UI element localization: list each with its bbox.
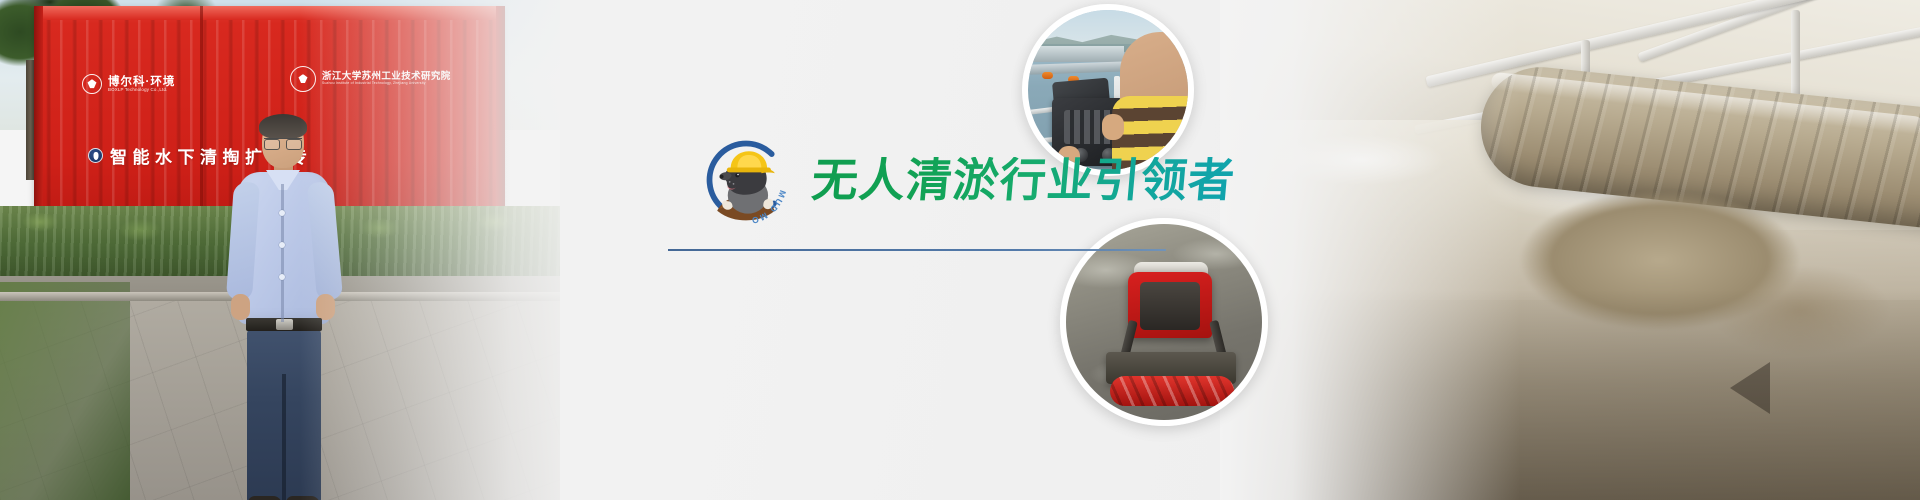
shirt-button [279, 242, 285, 248]
eyeglasses-icon [264, 138, 302, 148]
person-shoe [248, 496, 282, 500]
container-door-seam [200, 6, 203, 228]
person-shirt-placket [281, 184, 284, 322]
person-right-hand [316, 294, 335, 320]
boxlp-logo-icon [82, 74, 102, 94]
brand-secondary-en: Suzhou Institute of Industrial Technolog… [322, 82, 451, 86]
slogan-badge-icon [88, 148, 103, 163]
page-title: 无人清淤行业引领者 [810, 157, 1237, 203]
person-shoe [286, 496, 320, 500]
brand-primary-en: BOXLP Technology Co.,Ltd. [108, 88, 175, 93]
brand-lockup: MUD MOLE 无人清淤行业引领者 [698, 132, 1235, 228]
arrow-shape-icon [1730, 362, 1770, 414]
right-photo-group [1220, 0, 1920, 500]
container-brand-secondary: 浙江大学苏州工业技术研究院 Suzhou Institute of Indust… [290, 66, 451, 92]
person-pants [247, 328, 321, 500]
divider [668, 249, 1166, 251]
shirt-button [279, 274, 285, 280]
left-photo: 博尔科·环境 BOXLP Technology Co.,Ltd. 浙江大学苏州工… [0, 0, 560, 500]
grass-verge [0, 282, 130, 500]
person-hair [259, 114, 307, 139]
person-left-hand [231, 294, 250, 320]
zju-institute-logo-icon [290, 66, 316, 92]
hero-banner: 博尔科·环境 BOXLP Technology Co.,Ltd. 浙江大学苏州工… [0, 0, 1920, 500]
container-left-edge [34, 6, 43, 228]
bottom-shadow-overlay [1220, 290, 1920, 500]
person-figure [228, 118, 338, 500]
container-brand-primary: 博尔科·环境 BOXLP Technology Co.,Ltd. [82, 74, 175, 94]
shirt-button [279, 210, 285, 216]
center-content: MUD MOLE 无人清淤行业引领者 [660, 0, 1180, 500]
person-belt-buckle [276, 319, 293, 330]
container-right-edge [496, 6, 505, 228]
mud-mole-logo: MUD MOLE [698, 132, 794, 228]
brand-primary-cn: 博尔科·环境 [108, 76, 175, 88]
